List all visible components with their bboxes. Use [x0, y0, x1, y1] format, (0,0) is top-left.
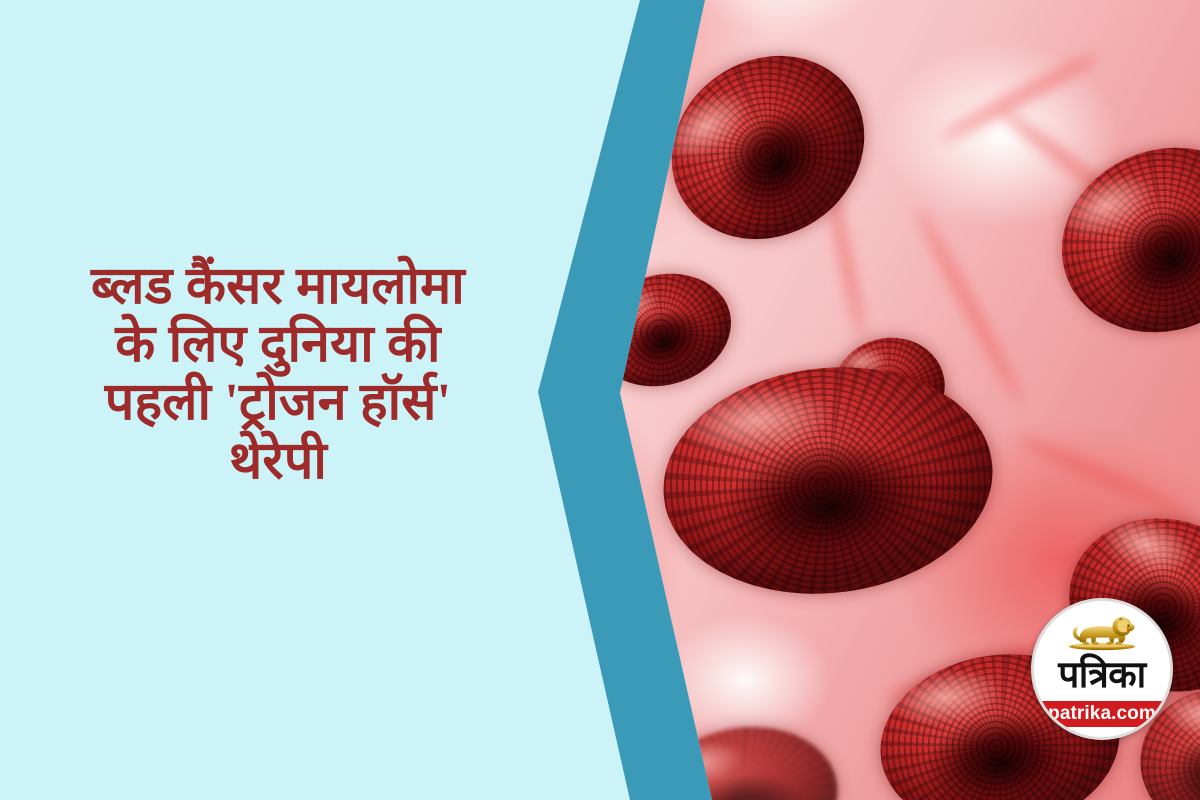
logo-domain-banner: patrika.com [1034, 701, 1170, 727]
page-title: ब्लड कैंसर मायलोमा के लिए दुनिया की पहली… [18, 258, 538, 491]
headline-line-2: के लिए दुनिया की [18, 316, 538, 374]
logo-wordmark: पत्रिका [1034, 649, 1170, 701]
lion-emblem-icon [1034, 610, 1170, 652]
poster-canvas: ब्लड कैंसर मायलोमा के लिए दुनिया की पहली… [0, 0, 1200, 800]
headline-line-3: पहली 'ट्रोजन हॉर्स' [18, 374, 538, 432]
patrika-logo[interactable]: पत्रिका patrika.com [1031, 598, 1173, 740]
headline-line-1: ब्लड कैंसर मायलोमा [18, 258, 538, 316]
headline-line-4: थेरेपी [18, 433, 538, 491]
